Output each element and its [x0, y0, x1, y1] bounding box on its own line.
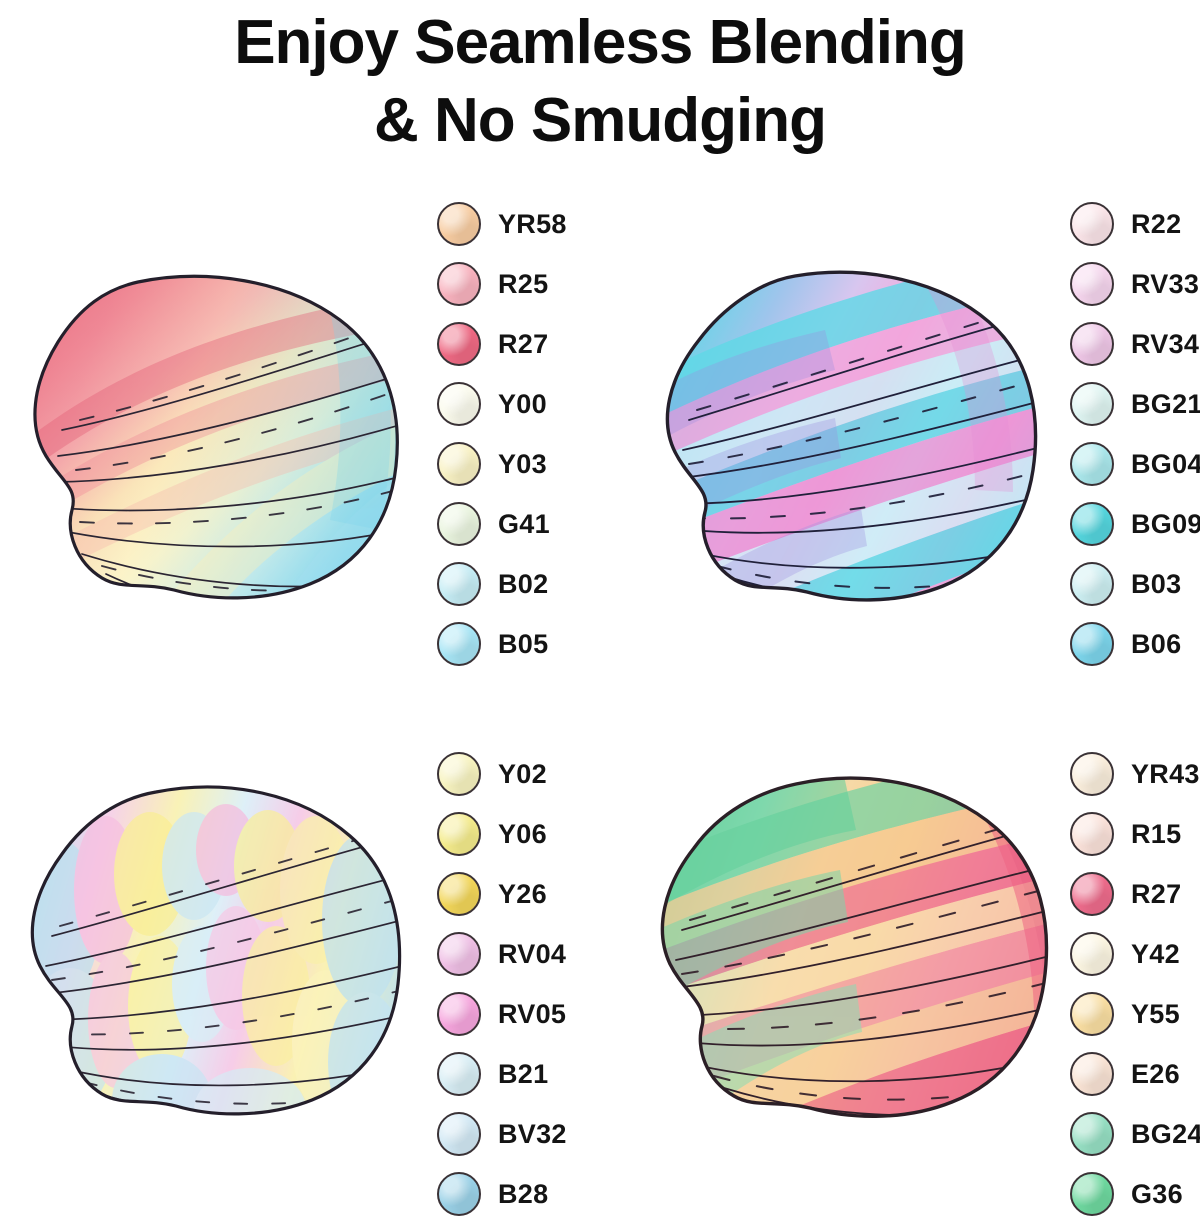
- legend-row[interactable]: RV34: [1070, 314, 1200, 374]
- color-code-label: E26: [1131, 1059, 1180, 1090]
- legend-bottom-left: Y02 Y06 Y26 RV04 RV05 B21: [437, 744, 567, 1224]
- color-swatch[interactable]: [1070, 622, 1114, 666]
- panel-top-left: YR58 R25 R27 Y00 Y03 G41: [0, 190, 600, 670]
- color-code-label: R27: [498, 329, 548, 360]
- color-code-label: Y26: [498, 879, 547, 910]
- color-swatch[interactable]: [437, 1172, 481, 1216]
- color-swatch[interactable]: [1070, 322, 1114, 366]
- color-swatch[interactable]: [1070, 442, 1114, 486]
- legend-row[interactable]: E26: [1070, 1044, 1200, 1104]
- legend-row[interactable]: RV04: [437, 924, 567, 984]
- legend-row[interactable]: B05: [437, 614, 567, 674]
- color-code-label: RV33: [1131, 269, 1199, 300]
- legend-row[interactable]: G36: [1070, 1164, 1200, 1224]
- legend-row[interactable]: Y26: [437, 864, 567, 924]
- legend-row[interactable]: RV05: [437, 984, 567, 1044]
- color-code-label: B21: [498, 1059, 548, 1090]
- color-swatch[interactable]: [1070, 932, 1114, 976]
- color-swatch[interactable]: [1070, 812, 1114, 856]
- shell-3-svg: [10, 770, 410, 1140]
- color-code-label: R27: [1131, 879, 1181, 910]
- seashell-illustration-1: [10, 260, 410, 620]
- color-code-label: B05: [498, 629, 548, 660]
- legend-row[interactable]: BV32: [437, 1104, 567, 1164]
- legend-row[interactable]: BG21: [1070, 374, 1200, 434]
- color-code-label: RV34: [1131, 329, 1199, 360]
- panel-bottom-left: Y02 Y06 Y26 RV04 RV05 B21: [0, 730, 600, 1200]
- headline-line-2: & No Smudging: [0, 82, 1200, 160]
- legend-top-left: YR58 R25 R27 Y00 Y03 G41: [437, 194, 567, 674]
- headline-line-1: Enjoy Seamless Blending: [0, 4, 1200, 82]
- legend-row[interactable]: B02: [437, 554, 567, 614]
- color-code-label: Y02: [498, 759, 547, 790]
- legend-row[interactable]: BG04: [1070, 434, 1200, 494]
- color-swatch[interactable]: [437, 872, 481, 916]
- color-code-label: BG21: [1131, 389, 1200, 420]
- color-code-label: RV04: [498, 939, 566, 970]
- legend-row[interactable]: YR58: [437, 194, 567, 254]
- color-code-label: B02: [498, 569, 548, 600]
- color-code-label: B03: [1131, 569, 1181, 600]
- color-swatch[interactable]: [1070, 1052, 1114, 1096]
- color-swatch[interactable]: [1070, 202, 1114, 246]
- seashell-illustration-4: [630, 760, 1050, 1140]
- legend-bottom-right: YR43 R15 R27 Y42 Y55 E26: [1070, 744, 1200, 1224]
- color-code-label: Y06: [498, 819, 547, 850]
- color-code-label: R22: [1131, 209, 1181, 240]
- color-swatch[interactable]: [437, 992, 481, 1036]
- color-code-label: YR58: [498, 209, 567, 240]
- color-swatch[interactable]: [1070, 752, 1114, 796]
- color-swatch[interactable]: [1070, 1112, 1114, 1156]
- color-code-label: Y03: [498, 449, 547, 480]
- legend-row[interactable]: R15: [1070, 804, 1200, 864]
- legend-row[interactable]: G41: [437, 494, 567, 554]
- color-code-label: Y42: [1131, 939, 1180, 970]
- shell-2-svg: [645, 260, 1045, 620]
- color-swatch[interactable]: [1070, 992, 1114, 1036]
- legend-row[interactable]: B21: [437, 1044, 567, 1104]
- legend-row[interactable]: Y55: [1070, 984, 1200, 1044]
- color-code-label: RV05: [498, 999, 566, 1030]
- legend-row[interactable]: Y42: [1070, 924, 1200, 984]
- legend-top-right: R22 RV33 RV34 BG21 BG04 BG09: [1070, 194, 1200, 674]
- legend-row[interactable]: RV33: [1070, 254, 1200, 314]
- legend-row[interactable]: R27: [437, 314, 567, 374]
- color-swatch[interactable]: [1070, 562, 1114, 606]
- color-code-label: BG04: [1131, 449, 1200, 480]
- color-code-label: R25: [498, 269, 548, 300]
- page-root: Enjoy Seamless Blending & No Smudging: [0, 0, 1200, 1200]
- legend-row[interactable]: BG09: [1070, 494, 1200, 554]
- color-code-label: BG24: [1131, 1119, 1200, 1150]
- color-swatch[interactable]: [437, 262, 481, 306]
- color-code-label: R15: [1131, 819, 1181, 850]
- panel-top-right: R22 RV33 RV34 BG21 BG04 BG09: [600, 190, 1200, 670]
- legend-row[interactable]: Y06: [437, 804, 567, 864]
- color-code-label: BG09: [1131, 509, 1200, 540]
- legend-row[interactable]: B28: [437, 1164, 567, 1224]
- legend-row[interactable]: Y03: [437, 434, 567, 494]
- color-swatch[interactable]: [437, 322, 481, 366]
- color-swatch[interactable]: [1070, 262, 1114, 306]
- legend-row[interactable]: R22: [1070, 194, 1200, 254]
- color-swatch[interactable]: [437, 622, 481, 666]
- color-swatch[interactable]: [1070, 872, 1114, 916]
- color-swatch[interactable]: [437, 502, 481, 546]
- color-swatch[interactable]: [437, 382, 481, 426]
- color-swatch[interactable]: [437, 202, 481, 246]
- legend-row[interactable]: Y02: [437, 744, 567, 804]
- color-swatch[interactable]: [437, 812, 481, 856]
- color-code-label: G41: [498, 509, 550, 540]
- color-swatch[interactable]: [1070, 502, 1114, 546]
- color-swatch[interactable]: [437, 1052, 481, 1096]
- color-code-label: Y00: [498, 389, 547, 420]
- color-swatch[interactable]: [437, 932, 481, 976]
- shell-4-svg: [630, 760, 1050, 1140]
- legend-row[interactable]: YR43: [1070, 744, 1200, 804]
- color-code-label: B06: [1131, 629, 1181, 660]
- headline: Enjoy Seamless Blending & No Smudging: [0, 4, 1200, 160]
- color-swatch[interactable]: [1070, 382, 1114, 426]
- seashell-illustration-3: [10, 770, 410, 1140]
- color-code-label: YR43: [1131, 759, 1200, 790]
- color-code-label: Y55: [1131, 999, 1180, 1030]
- shell-1-svg: [10, 260, 410, 620]
- legend-row[interactable]: BG24: [1070, 1104, 1200, 1164]
- color-swatch[interactable]: [437, 442, 481, 486]
- color-swatch[interactable]: [437, 562, 481, 606]
- legend-row[interactable]: B06: [1070, 614, 1200, 674]
- legend-row[interactable]: R25: [437, 254, 567, 314]
- color-code-label: BV32: [498, 1119, 567, 1150]
- panel-bottom-right: YR43 R15 R27 Y42 Y55 E26: [600, 730, 1200, 1200]
- color-swatch[interactable]: [1070, 1172, 1114, 1216]
- seashell-illustration-2: [645, 260, 1045, 620]
- color-swatch[interactable]: [437, 752, 481, 796]
- legend-row[interactable]: Y00: [437, 374, 567, 434]
- color-code-label: G36: [1131, 1179, 1183, 1210]
- legend-row[interactable]: R27: [1070, 864, 1200, 924]
- color-swatch[interactable]: [437, 1112, 481, 1156]
- color-code-label: B28: [498, 1179, 548, 1210]
- legend-row[interactable]: B03: [1070, 554, 1200, 614]
